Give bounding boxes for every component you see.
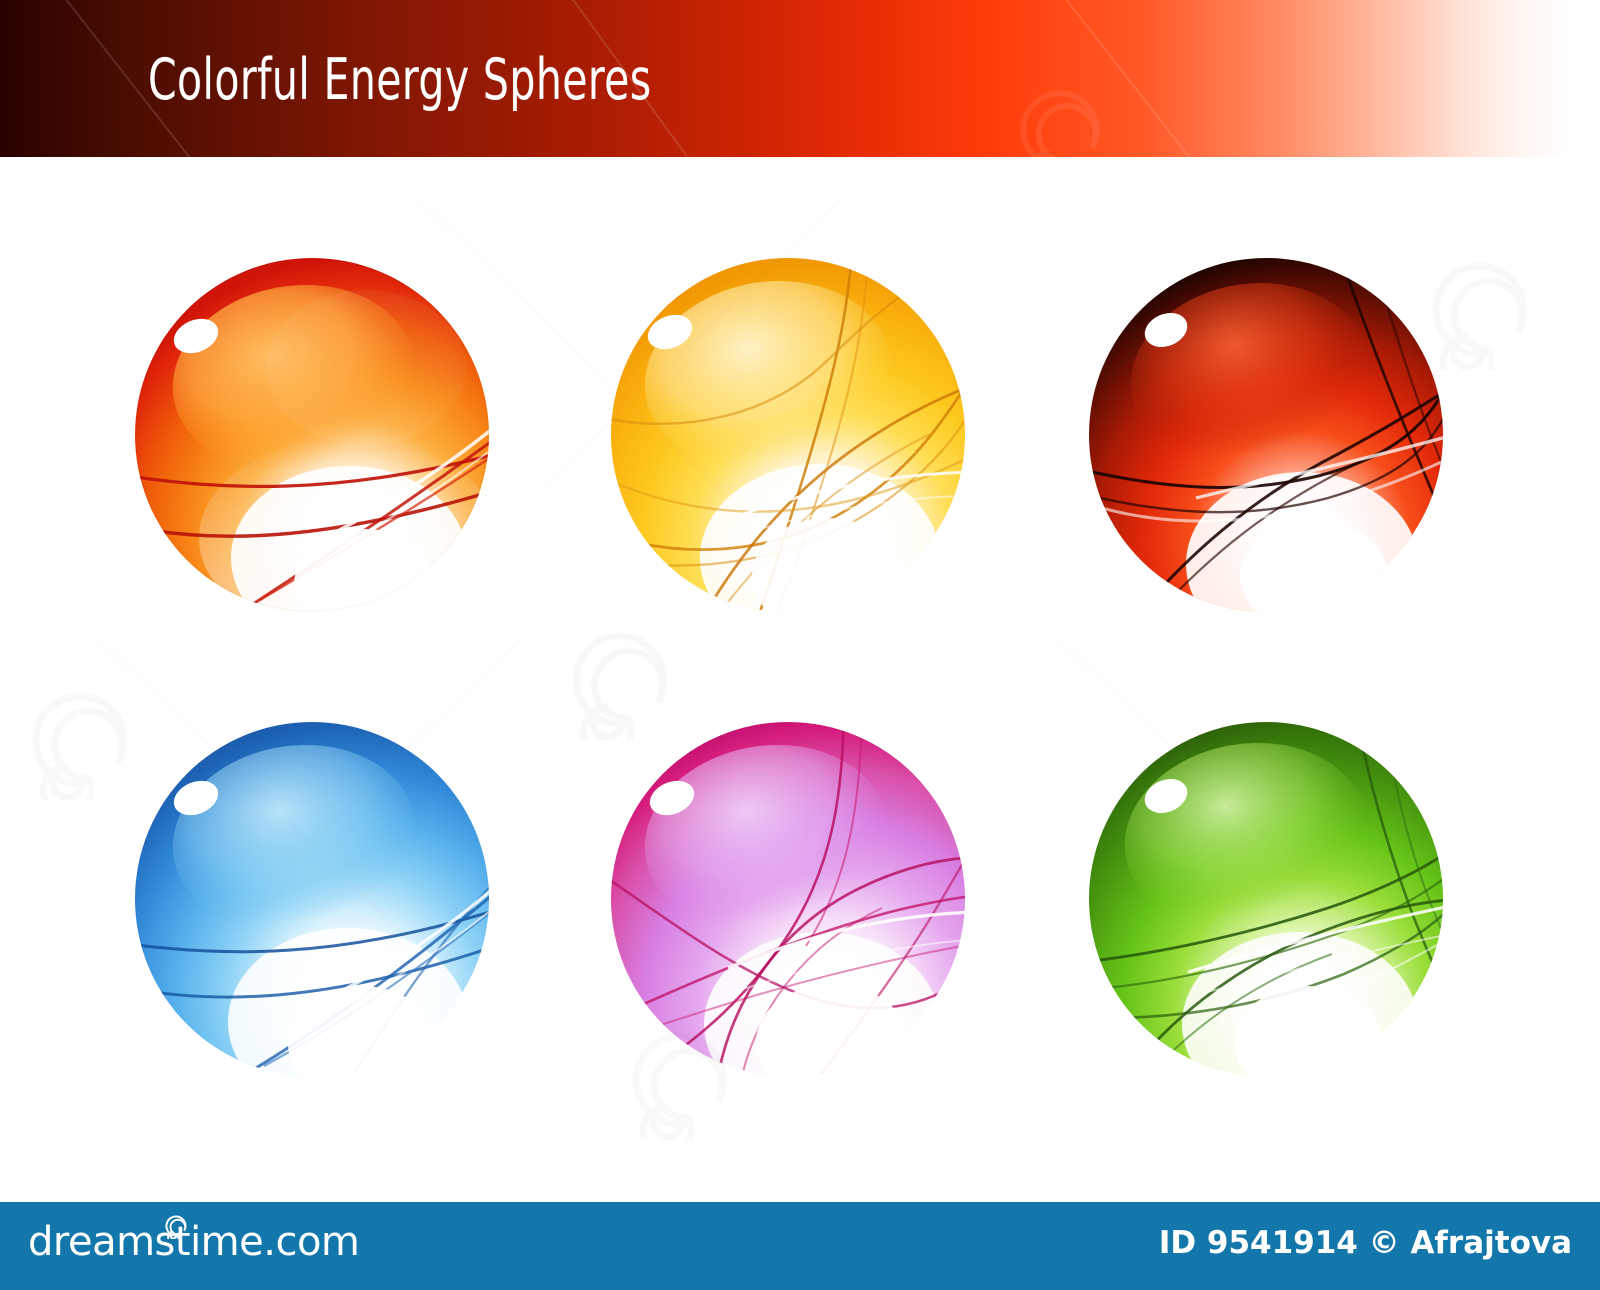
yellow-sphere[interactable]: [610, 258, 966, 612]
sphere-cell-6: [1088, 722, 1448, 1082]
spiral-icon: [163, 1213, 189, 1239]
sphere-gallery: [0, 157, 1600, 1202]
dreamstime-logo[interactable]: dreamstime.com: [28, 1222, 359, 1262]
footer-bar: dreamstime.com ID 9541914 © Afrajtova: [0, 1202, 1600, 1290]
pink-sphere[interactable]: [610, 722, 966, 1076]
blue-sphere[interactable]: [134, 722, 490, 1076]
sphere-cell-2: [610, 258, 970, 618]
orange-sphere[interactable]: [134, 258, 490, 612]
sphere-cell-4: [134, 722, 494, 1082]
sphere-cell-3: [1088, 258, 1448, 618]
green-sphere[interactable]: [1088, 722, 1444, 1076]
sphere-cell-1: [134, 258, 494, 618]
image-id-credit: ID 9541914 © Afrajtova: [1159, 1228, 1572, 1259]
sphere-cell-5: [610, 722, 970, 1082]
dark-red-sphere[interactable]: [1088, 258, 1444, 612]
header-banner: Colorful Energy Spheres: [0, 0, 1600, 157]
header-streak: [1059, 0, 1202, 157]
page-title: Colorful Energy Spheres: [148, 52, 652, 109]
